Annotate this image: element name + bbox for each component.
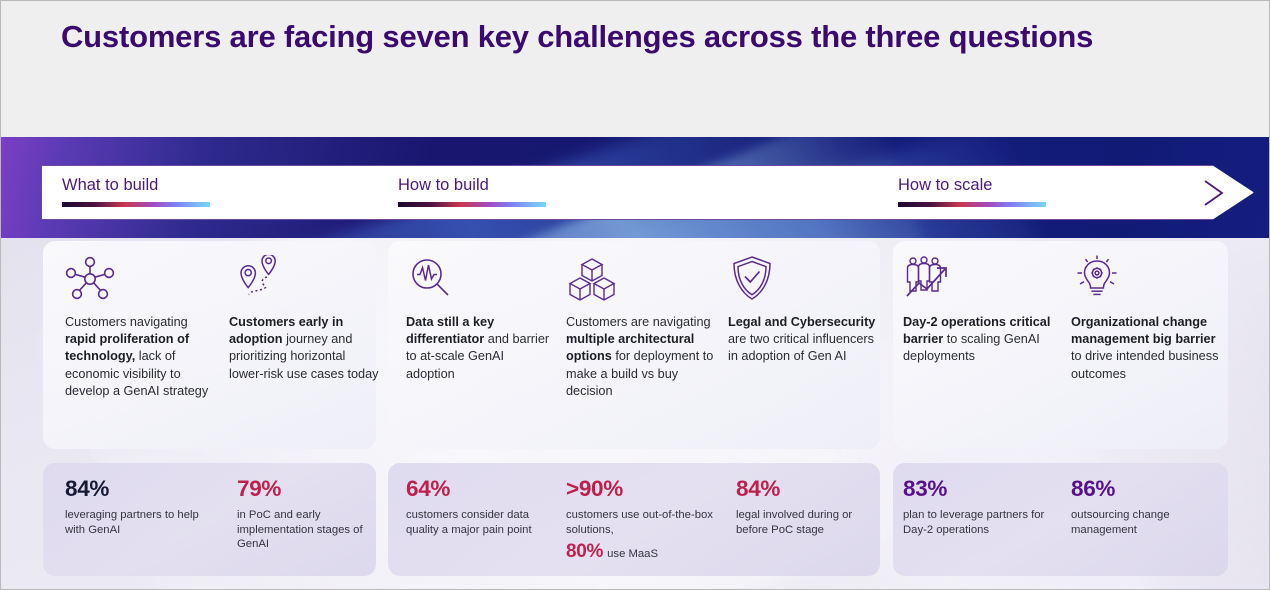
data-analysis-magnifier-icon [406,255,462,301]
stat-card-what-to-build: 84% leveraging partners to help with Gen… [43,463,376,576]
shield-check-icon [728,255,784,301]
stat-item: 64% customers consider data quality a ma… [406,463,556,576]
challenge-text: Customers navigating rapid proliferation… [65,314,215,400]
tab-strip: What to build How to build How to scale [41,165,1254,220]
stat-item: 84% leveraging partners to help with Gen… [65,463,215,576]
stat-item: 83% plan to leverage partners for Day-2 … [903,463,1063,576]
challenge-text: Customers are navigating multiple archit… [566,314,716,400]
tab-what-to-build[interactable]: What to build [62,176,210,207]
title-area: Customers are facing seven key challenge… [1,1,1270,137]
tab-how-to-scale[interactable]: How to scale [898,176,1046,207]
challenge-item: Customers are navigating multiple archit… [566,241,716,449]
challenge-item: Customers early in adoption journey and … [229,241,379,449]
stat-card-how-to-build: 64% customers consider data quality a ma… [388,463,880,576]
stat-item: 79% in PoC and early implementation stag… [237,463,387,576]
challenge-item: Organizational change management big bar… [1071,241,1221,449]
challenge-text: Day-2 operations critical barrier to sca… [903,314,1053,366]
challenge-item: Customers navigating rapid proliferation… [65,241,225,449]
challenge-card-how-to-build: Data still a key differentiator and barr… [388,241,880,449]
stat-value: 86% [1071,478,1115,501]
journey-map-pins-icon [229,255,285,301]
stat-value: 84% [736,478,780,501]
chevron-right-icon[interactable] [1201,178,1227,208]
stat-sub-value: 80% [566,541,603,562]
stat-item: 86% outsourcing change management [1071,463,1221,576]
challenge-text: Data still a key differentiator and barr… [406,314,556,383]
people-growth-chart-icon [903,255,959,301]
tab-underline [898,202,1046,207]
stat-description: leveraging partners to help with GenAI [65,508,215,537]
stat-sub-text: use MaaS [607,548,658,560]
stat-value: >90% [566,478,623,501]
stat-value: 84% [65,478,109,501]
challenge-text: Organizational change management big bar… [1071,314,1221,383]
challenge-text: Legal and Cybersecurity are two critical… [728,314,878,366]
lightbulb-gear-icon [1071,255,1127,301]
stat-item: >90% customers use out-of-the-box soluti… [566,463,726,576]
stat-description: customers use out-of-the-box solutions, [566,508,716,537]
tab-label: How to build [398,176,546,194]
challenge-card-what-to-build: Customers navigating rapid proliferation… [43,241,376,449]
stat-card-how-to-scale: 83% plan to leverage partners for Day-2 … [893,463,1228,576]
challenge-text: Customers early in adoption journey and … [229,314,379,383]
tab-how-to-build[interactable]: How to build [398,176,546,207]
stat-item: 84% legal involved during or before PoC … [736,463,886,576]
tab-label: How to scale [898,176,1046,194]
page-title: Customers are facing seven key challenge… [61,19,1093,55]
stat-value: 64% [406,478,450,501]
stat-value: 83% [903,478,947,501]
challenge-card-how-to-scale: Day-2 operations critical barrier to sca… [893,241,1228,449]
challenge-item: Legal and Cybersecurity are two critical… [728,241,868,449]
tab-label: What to build [62,176,210,194]
challenge-item: Day-2 operations critical barrier to sca… [903,241,1063,449]
stat-description: in PoC and early implementation stages o… [237,508,387,552]
tab-underline [62,202,210,207]
stacked-cubes-icon [566,255,622,301]
stat-description: plan to leverage partners for Day-2 oper… [903,508,1053,537]
tab-underline [398,202,546,207]
stat-description: legal involved during or before PoC stag… [736,508,886,537]
network-nodes-icon [65,255,121,301]
stat-value: 79% [237,478,281,501]
stat-description: customers consider data quality a major … [406,508,556,537]
stat-sub-line: 80%use MaaS [566,541,658,563]
challenge-item: Data still a key differentiator and barr… [406,241,554,449]
slide: Customers are facing seven key challenge… [0,0,1270,590]
stat-description: outsourcing change management [1071,508,1221,537]
